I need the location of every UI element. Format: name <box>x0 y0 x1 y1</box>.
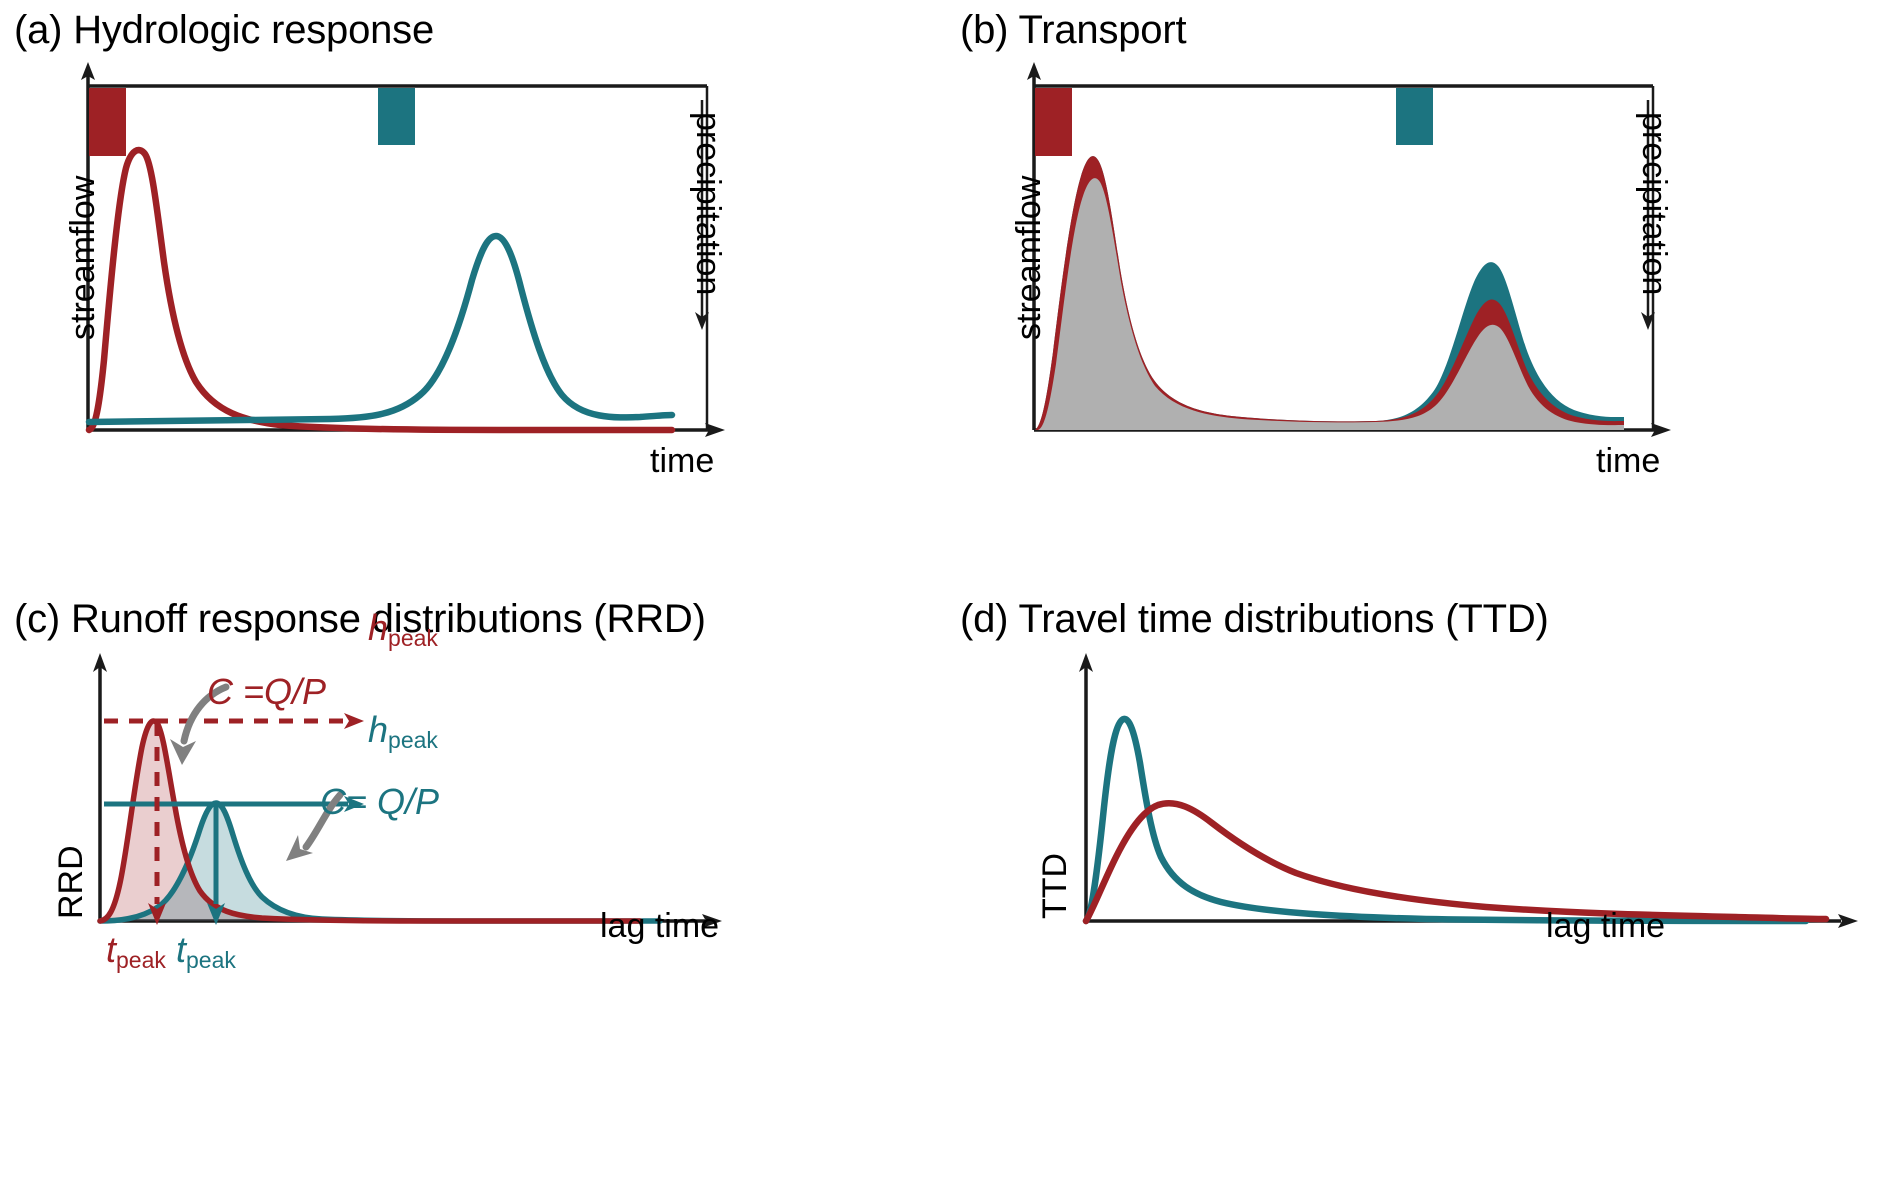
panel-c-hpeak-red-label: hpeak <box>368 607 438 649</box>
panel-b-title: (b) Transport <box>960 8 1186 53</box>
panel-c-xlabel: lag time <box>600 907 719 946</box>
panel-c-tpeak-teal-var: t <box>176 929 186 970</box>
panel-b-precipitation-label: precipitation <box>1634 112 1673 295</box>
panel-d-title: (d) Travel time distributions (TTD) <box>960 597 1549 642</box>
panel-a-plot <box>0 0 946 589</box>
panel-c-hpeak-red-var: h <box>368 607 388 648</box>
panel-travel-time-distributions: (d) Travel time distributions (TTD) TTD … <box>946 589 1892 1178</box>
panel-c-hpeak-teal-var: h <box>368 709 388 750</box>
panel-c-tpeak-red-label: tpeak <box>106 929 166 971</box>
panel-c-tpeak-teal-sub: peak <box>186 947 236 973</box>
panel-c-runoff-coefficient-red-label: C =Q/P <box>207 671 326 713</box>
panel-d-plot <box>946 589 1892 1178</box>
panel-c-title: (c) Runoff response distributions (RRD) <box>14 597 706 642</box>
panel-a-xlabel: time <box>650 442 714 481</box>
panel-a-precip-bar-red <box>89 88 126 156</box>
panel-b-ylabel: streamflow <box>1010 176 1049 340</box>
panel-c-plot <box>0 589 946 1178</box>
panel-a-precip-bar-teal <box>378 88 415 145</box>
panel-c-tpeak-red-sub: peak <box>116 947 166 973</box>
panel-b-xlabel: time <box>1596 442 1660 481</box>
panel-c-hpeak-red-arrowhead <box>344 713 364 729</box>
panel-hydrologic-response: (a) Hydrologic response streamflow time … <box>0 0 946 589</box>
panel-c-hpeak-red-sub: peak <box>388 625 438 651</box>
panel-b-plot <box>946 0 1892 589</box>
panel-d-curve-teal <box>1086 719 1806 921</box>
panel-a-precipitation-label: precipitation <box>688 112 727 295</box>
panel-c-tpeak-teal-label: tpeak <box>176 929 236 971</box>
panel-transport: (b) Transport streamflow time precipitat… <box>946 0 1892 589</box>
figure-root: (a) Hydrologic response streamflow time … <box>0 0 1892 1178</box>
panel-d-ylabel: TTD <box>1036 853 1075 919</box>
panel-runoff-response-distributions: (c) Runoff response distributions (RRD) … <box>0 589 946 1178</box>
panel-d-curve-red <box>1086 803 1826 921</box>
panel-a-title: (a) Hydrologic response <box>14 8 434 53</box>
panel-a-ylabel: streamflow <box>64 176 103 340</box>
panel-a-curve-red <box>89 150 672 430</box>
panel-c-ylabel: RRD <box>52 845 91 919</box>
panel-b-precip-bar-red <box>1035 88 1072 156</box>
panel-b-precip-bar-teal <box>1396 88 1433 145</box>
panel-d-xlabel: lag time <box>1546 907 1665 946</box>
panel-c-runoff-coefficient-teal-label: C= Q/P <box>320 781 439 823</box>
panel-c-tpeak-red-var: t <box>106 929 116 970</box>
panel-c-hpeak-teal-label: hpeak <box>368 709 438 751</box>
panel-c-hpeak-teal-sub: peak <box>388 727 438 753</box>
